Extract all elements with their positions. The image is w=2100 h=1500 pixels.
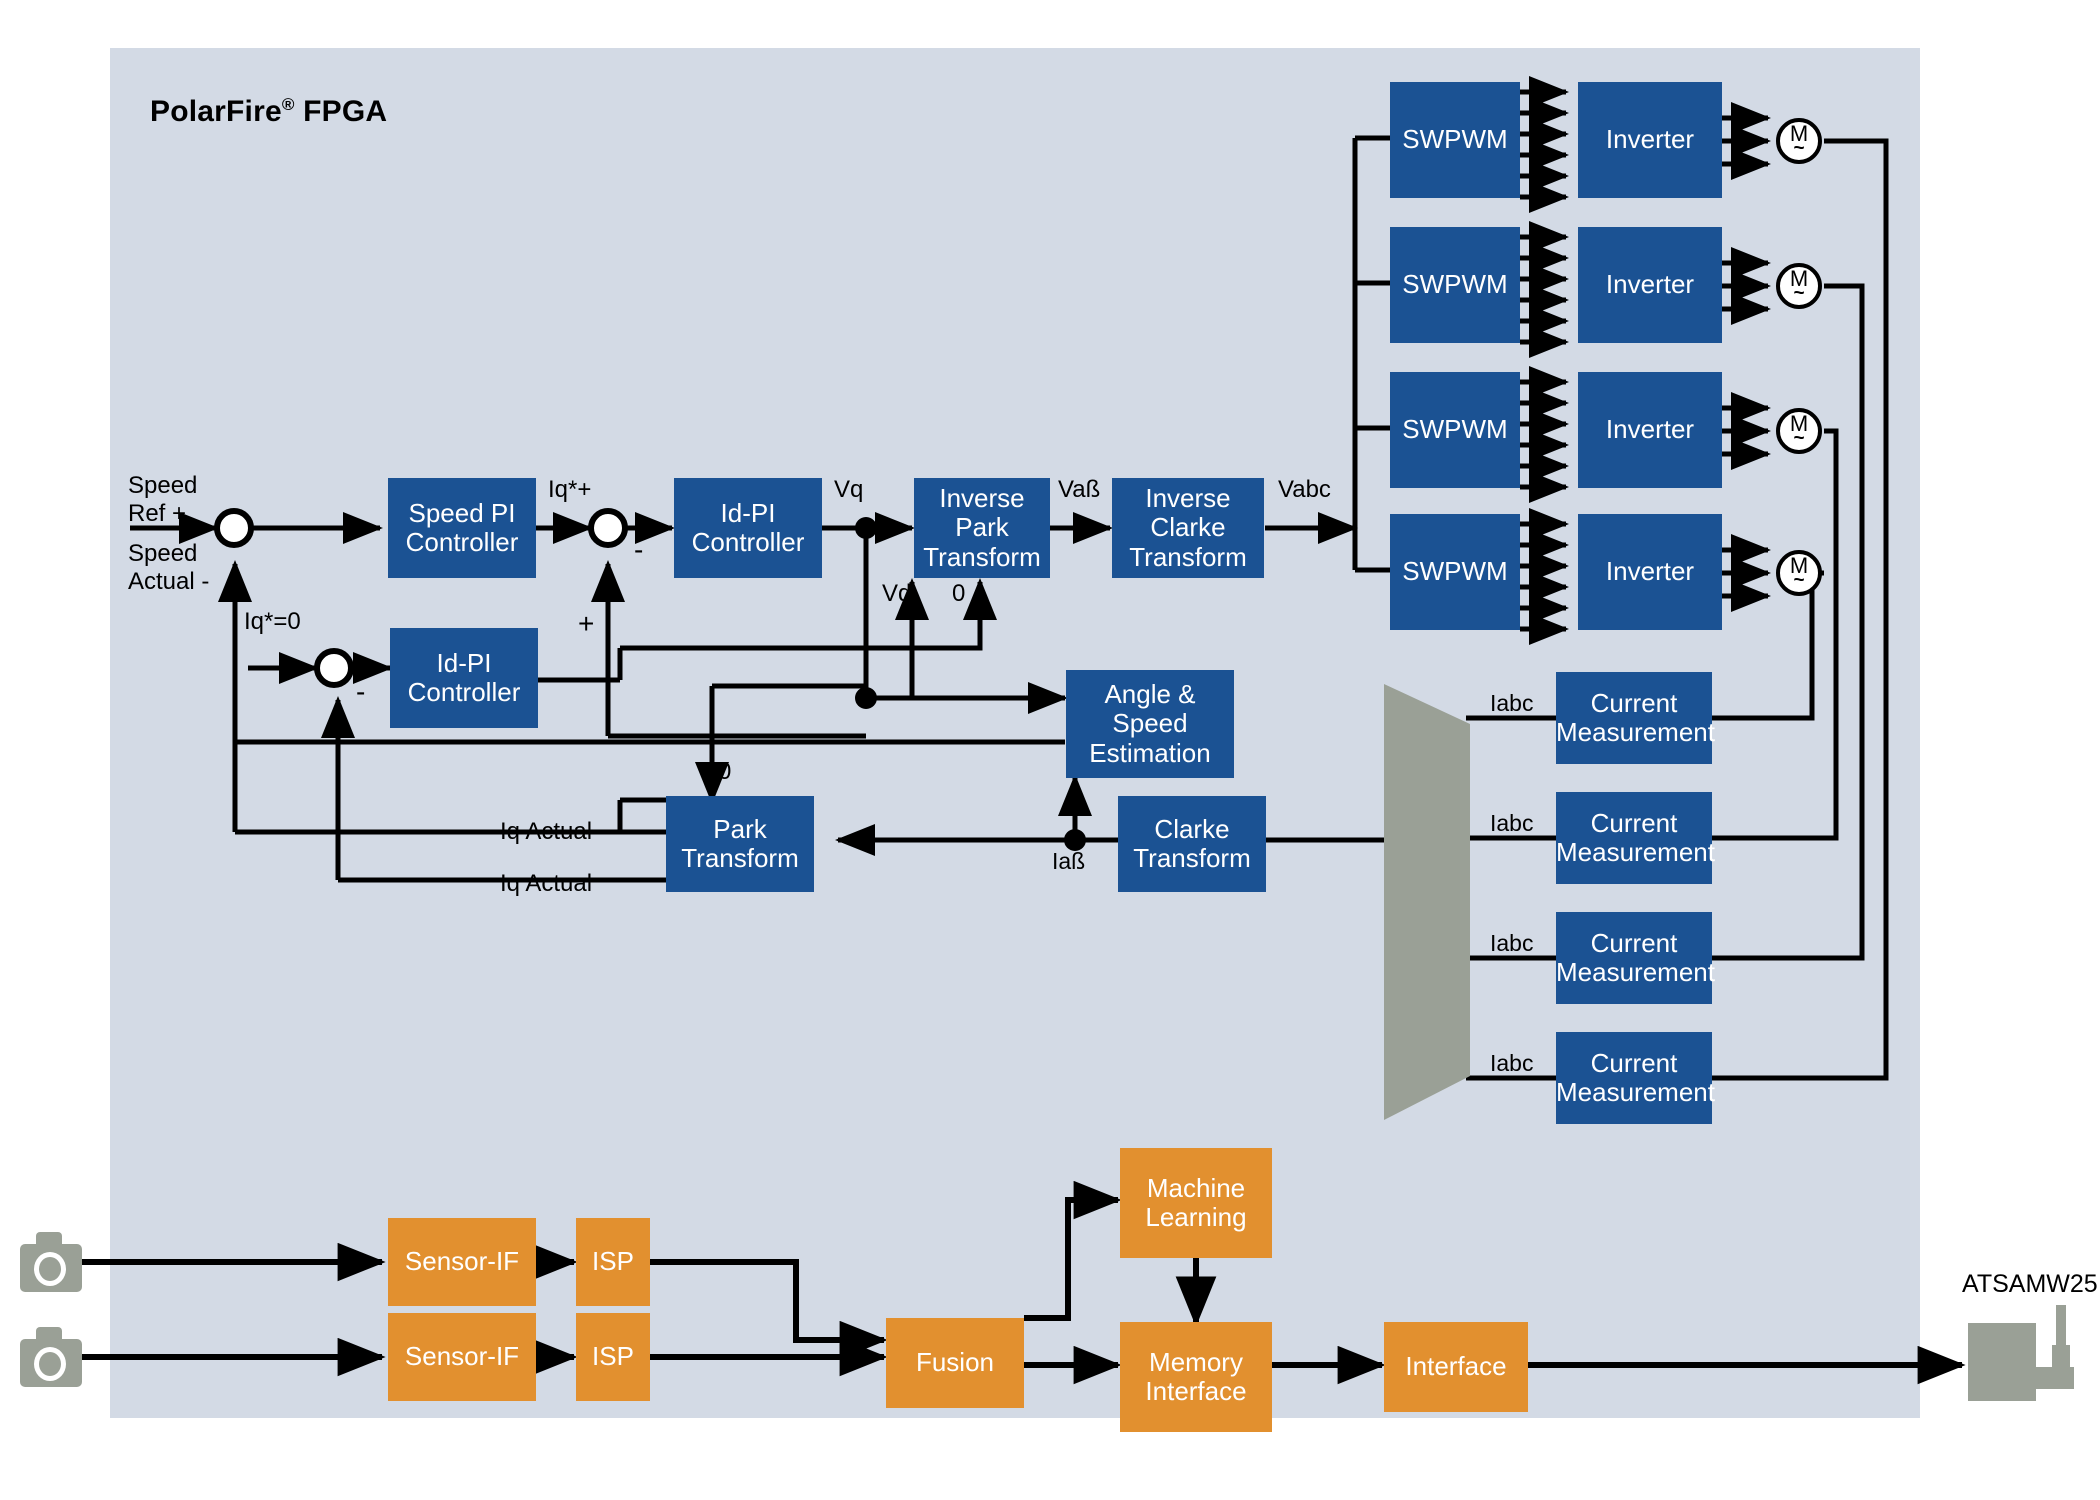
panel-title-suffix: FPGA — [295, 95, 388, 128]
motor-ac-symbol: ~ — [1780, 429, 1818, 448]
label-zero-park-in: 0 — [952, 580, 965, 608]
block-label: Id-PIController — [390, 649, 538, 707]
block-label: CurrentMeasurement — [1553, 809, 1715, 867]
block-label: SWPWM — [1390, 270, 1520, 299]
block-id-pi-controller-lower[interactable]: Id-PIController — [390, 628, 538, 728]
label-vd: Vd — [882, 580, 911, 608]
block-label: Inverter — [1578, 125, 1722, 154]
block-label: CurrentMeasurement — [1553, 1049, 1715, 1107]
block-label: Interface — [1384, 1352, 1528, 1381]
block-label: Inverse ParkTransform — [914, 484, 1050, 571]
block-swpwm-1[interactable]: SWPWM — [1390, 82, 1520, 198]
block-label: MachineLearning — [1120, 1174, 1272, 1232]
block-label: Fusion — [886, 1348, 1024, 1377]
block-label: CurrentMeasurement — [1553, 689, 1715, 747]
block-label: CurrentMeasurement — [1553, 929, 1715, 987]
label-iabc-1: Iabc — [1490, 690, 1533, 717]
module-body — [1968, 1323, 2036, 1401]
label-v-alpha-beta: Vaß — [1058, 476, 1100, 504]
block-label: SWPWM — [1390, 557, 1520, 586]
block-inverse-clarke-transform[interactable]: Inverse ClarkeTransform — [1112, 478, 1264, 578]
motor-3: M ~ — [1776, 408, 1822, 454]
camera-2 — [20, 1327, 82, 1387]
sign-sum3-minus: - — [356, 676, 365, 708]
block-label: Angle & SpeedEstimation — [1066, 680, 1234, 767]
label-speed-ref: SpeedRef + — [128, 472, 197, 529]
block-park-transform[interactable]: ParkTransform — [666, 796, 814, 892]
block-label: Inverter — [1578, 557, 1722, 586]
block-label: ISP — [576, 1342, 650, 1371]
label-iq-actual-1: Iq Actual — [500, 818, 592, 846]
label-iabc-2: Iabc — [1490, 810, 1533, 837]
block-label: Inverter — [1578, 415, 1722, 444]
signal-mux — [1380, 676, 1476, 1128]
block-label: Inverse ClarkeTransform — [1112, 484, 1264, 571]
block-isp-1[interactable]: ISP — [576, 1218, 650, 1306]
label-iq-actual-2: Iq Actual — [500, 870, 592, 898]
label-vabc: Vabc — [1278, 476, 1331, 504]
block-inverse-park-transform[interactable]: Inverse ParkTransform — [914, 478, 1050, 578]
block-label: Speed PIController — [388, 499, 536, 557]
block-swpwm-2[interactable]: SWPWM — [1390, 227, 1520, 343]
block-machine-learning[interactable]: MachineLearning — [1120, 1148, 1272, 1258]
block-current-measurement-4[interactable]: CurrentMeasurement — [1556, 1032, 1712, 1124]
block-isp-2[interactable]: ISP — [576, 1313, 650, 1401]
block-current-measurement-3[interactable]: CurrentMeasurement — [1556, 912, 1712, 1004]
label-iabc-3: Iabc — [1490, 930, 1533, 957]
block-clarke-transform[interactable]: ClarkeTransform — [1118, 796, 1266, 892]
block-inverter-1[interactable]: Inverter — [1578, 82, 1722, 198]
sign-sum2-plus: + — [578, 608, 594, 640]
block-label: ParkTransform — [666, 815, 814, 873]
block-label: Sensor-IF — [388, 1247, 536, 1276]
panel-title-main: PolarFire — [150, 95, 282, 128]
block-current-measurement-1[interactable]: CurrentMeasurement — [1556, 672, 1712, 764]
block-label: SWPWM — [1390, 415, 1520, 444]
block-label: ClarkeTransform — [1118, 815, 1266, 873]
block-memory-interface[interactable]: MemoryInterface — [1120, 1322, 1272, 1432]
label-i-alpha-beta: Iaß — [1052, 848, 1085, 875]
label-vq: Vq — [834, 476, 863, 504]
block-interface[interactable]: Interface — [1384, 1322, 1528, 1412]
motor-ac-symbol: ~ — [1780, 571, 1818, 590]
block-fusion[interactable]: Fusion — [886, 1318, 1024, 1408]
atsamw25-module-icon — [1968, 1305, 2078, 1405]
block-angle-speed-estimation[interactable]: Angle & SpeedEstimation — [1066, 670, 1234, 778]
label-speed-actual: SpeedActual - — [128, 540, 209, 597]
motor-1: M ~ — [1776, 118, 1822, 164]
camera-lens-icon — [34, 1347, 66, 1381]
motor-ac-symbol: ~ — [1780, 139, 1818, 158]
page-title: PolarFire® FPGA — [150, 95, 387, 129]
sign-sum2-minus: - — [634, 534, 643, 566]
block-swpwm-3[interactable]: SWPWM — [1390, 372, 1520, 488]
block-inverter-2[interactable]: Inverter — [1578, 227, 1722, 343]
block-sensor-if-1[interactable]: Sensor-IF — [388, 1218, 536, 1306]
camera-1 — [20, 1232, 82, 1292]
block-label: MemoryInterface — [1120, 1348, 1272, 1406]
block-label: SWPWM — [1390, 125, 1520, 154]
block-sensor-if-2[interactable]: Sensor-IF — [388, 1313, 536, 1401]
block-label: Sensor-IF — [388, 1342, 536, 1371]
label-iq-star-zero: Iq*=0 — [244, 608, 301, 636]
label-iq-star-plus: Iq*+ — [548, 476, 591, 504]
label-zero-park-top: 0 — [718, 758, 731, 786]
block-swpwm-4[interactable]: SWPWM — [1390, 514, 1520, 630]
label-iabc-4: Iabc — [1490, 1050, 1533, 1077]
motor-4: M ~ — [1776, 550, 1822, 596]
block-inverter-3[interactable]: Inverter — [1578, 372, 1722, 488]
diagram-canvas: PolarFire® FPGA — [0, 0, 2100, 1500]
block-speed-pi-controller[interactable]: Speed PIController — [388, 478, 536, 578]
atsamw25-label: ATSAMW25 — [1962, 1270, 2098, 1299]
block-label: ISP — [576, 1247, 650, 1276]
block-id-pi-controller-upper[interactable]: Id-PIController — [674, 478, 822, 578]
block-current-measurement-2[interactable]: CurrentMeasurement — [1556, 792, 1712, 884]
camera-lens-icon — [34, 1252, 66, 1286]
registered-mark: ® — [282, 95, 295, 114]
motor-ac-symbol: ~ — [1780, 284, 1818, 303]
block-label: Id-PIController — [674, 499, 822, 557]
block-label: Inverter — [1578, 270, 1722, 299]
block-inverter-4[interactable]: Inverter — [1578, 514, 1722, 630]
motor-2: M ~ — [1776, 263, 1822, 309]
module-tab — [2030, 1367, 2074, 1389]
